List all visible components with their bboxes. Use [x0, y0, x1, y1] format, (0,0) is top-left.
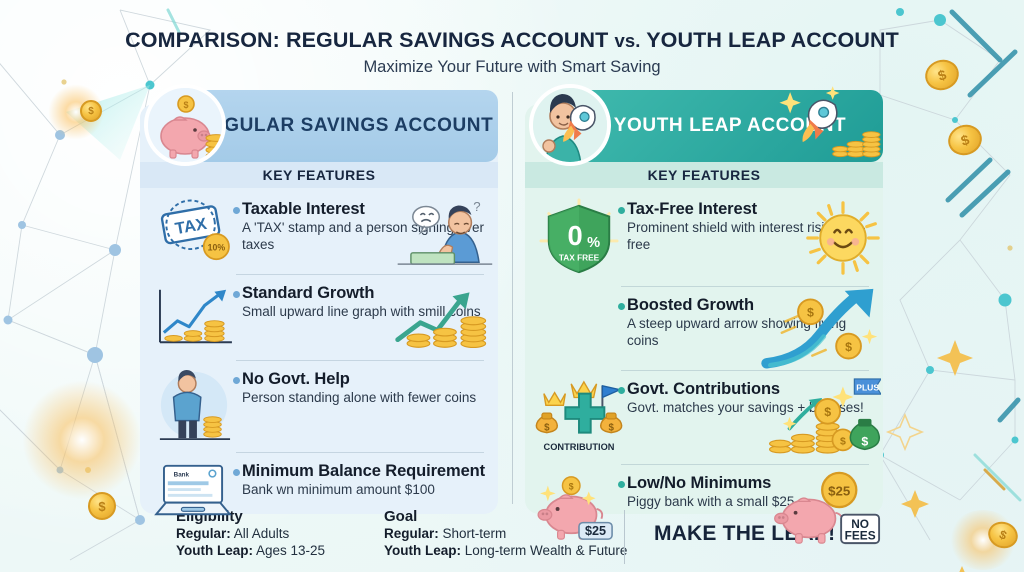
goal-youth-label: Youth Leap: [384, 543, 461, 558]
bullet-icon [233, 207, 240, 214]
page-title-part1: COMPARISON: REGULAR SAVINGS ACCOUNT [125, 28, 608, 52]
svg-text:%: % [587, 235, 600, 251]
svg-text:CONTRIBUTION: CONTRIBUTION [544, 442, 615, 452]
piggy-bank-icon: $ [144, 84, 226, 166]
regular-savings-title-bar: REGULAR SAVINGS ACCOUNT [192, 90, 498, 162]
feature-low-no-minimums: $ $25 [525, 464, 883, 552]
feature-title: Boosted Growth [627, 296, 873, 314]
feature-tax-free-interest-text: Tax-Free Interest Prominent shield with … [627, 198, 873, 278]
svg-text:Bank: Bank [174, 471, 190, 478]
bullet-icon [233, 377, 240, 384]
feature-title: Govt. Contributions [627, 380, 873, 398]
feature-title: Tax-Free Interest [627, 200, 873, 218]
rocket-coins-icon [765, 84, 881, 162]
feature-title: Taxable Interest [242, 200, 488, 218]
feature-minimum-balance-text: Minimum Balance Requirement Bank wn mini… [242, 460, 488, 522]
feature-taxable-interest: TAX 10% Taxable Interest A 'TAX' stamp a… [140, 190, 498, 274]
svg-text:TAX FREE: TAX FREE [559, 252, 600, 262]
feature-standard-growth-text: Standard Growth Small upward line graph … [242, 282, 488, 352]
feature-desc: Piggy bank with a small $25 [627, 494, 873, 510]
right-key-features-label: KEY FEATURES [648, 167, 761, 183]
page-title-vs: vs. [615, 30, 641, 51]
svg-text:$: $ [569, 482, 574, 492]
feature-desc: Prominent shield with interest rising ta… [627, 220, 873, 252]
svg-text:$: $ [183, 100, 188, 110]
feature-desc: Small upward line graph with smill coins [242, 304, 488, 320]
bullet-icon [233, 469, 240, 476]
svg-text:10%: 10% [208, 242, 226, 252]
decor-coin-right-mid: $ [944, 120, 986, 159]
svg-text:$: $ [608, 423, 614, 434]
regular-savings-title: REGULAR SAVINGS ACCOUNT [197, 115, 494, 136]
feature-standard-growth: Standard Growth Small upward line graph … [140, 274, 498, 360]
svg-text:$25: $25 [585, 524, 606, 538]
decor-coin-left: $ [80, 100, 102, 122]
feature-no-govt-help: No Govt. Help Person standing alone with… [140, 360, 498, 452]
bullet-icon [618, 387, 625, 394]
feature-boosted-growth: Boosted Growth A steep upward arrow show… [525, 286, 883, 370]
feature-title: Low/No Minimums [627, 474, 873, 492]
shield-zero-percent-icon: 0 % TAX FREE [531, 198, 627, 278]
page-title-part2: YOUTH LEAP ACCOUNT [646, 28, 899, 52]
bullet-icon [618, 481, 625, 488]
bullet-icon [233, 291, 240, 298]
feature-title: Standard Growth [242, 284, 488, 302]
feature-no-govt-help-text: No Govt. Help Person standing alone with… [242, 368, 488, 444]
feature-boosted-growth-text: Boosted Growth A steep upward arrow show… [627, 294, 873, 362]
feature-title: Minimum Balance Requirement [242, 462, 488, 480]
laptop-bank-icon: Bank [146, 460, 242, 522]
left-feature-list: TAX 10% Taxable Interest A 'TAX' stamp a… [140, 190, 498, 530]
right-feature-list: 0 % TAX FREE Tax-Free Interest Prominent… [525, 190, 883, 552]
feature-desc: Person standing alone with fewer coins [242, 390, 488, 406]
feature-tax-free-interest: 0 % TAX FREE Tax-Free Interest Prominent… [525, 190, 883, 286]
eligibility-youth: Youth Leap: Ages 13-25 [176, 543, 325, 559]
column-divider [512, 92, 513, 504]
money-bags-plus-icon: $ $ CONTRIBUTION [531, 378, 627, 456]
person-alone-icon [146, 368, 242, 444]
youth-leap-title-bar: YOUTH LEAP ACCOUNT [577, 90, 883, 162]
page-subtitle: Maximize Your Future with Smart Saving [0, 58, 1024, 77]
feature-desc: A steep upward arrow showing flying coin… [627, 316, 873, 348]
orange-glow-bottom-left [22, 380, 142, 500]
steep-arrow-icon [531, 294, 627, 362]
tax-stamp-icon: TAX 10% [146, 198, 242, 266]
svg-text:0: 0 [568, 220, 583, 251]
infographic-canvas: $ $ $ $ $ COMPARISON: REGULAR SAVINGS AC… [0, 0, 1024, 572]
right-key-features-band: KEY FEATURES [525, 162, 883, 188]
left-key-features-band: KEY FEATURES [140, 162, 498, 188]
eligibility-youth-value: Ages 13-25 [256, 543, 325, 558]
bullet-icon [618, 207, 625, 214]
feature-title: No Govt. Help [242, 370, 488, 388]
feature-minimum-balance: Bank Minimum Balance Requirement Bank wn… [140, 452, 498, 530]
left-key-features-label: KEY FEATURES [263, 167, 376, 183]
feature-desc: Govt. matches your savings + bonuses! [627, 400, 873, 416]
piggy-bank-25-icon: $ $25 [531, 472, 627, 544]
feature-govt-contributions: $ $ CONTRIBUTION Govt. Contributions Gov… [525, 370, 883, 464]
youth-rocket-icon [529, 84, 611, 166]
page-title: COMPARISON: REGULAR SAVINGS ACCOUNT vs. … [0, 28, 1024, 53]
feature-low-no-minimums-text: Low/No Minimums Piggy bank with a small … [627, 472, 873, 544]
feature-desc: Bank wn minimum amount $100 [242, 482, 488, 498]
feature-desc: A 'TAX' stamp and a person sighing over … [242, 220, 488, 252]
bullet-icon [618, 303, 625, 310]
eligibility-youth-label: Youth Leap: [176, 543, 253, 558]
feature-taxable-interest-text: Taxable Interest A 'TAX' stamp and a per… [242, 198, 488, 266]
line-graph-coins-icon [146, 282, 242, 352]
feature-govt-contributions-text: Govt. Contributions Govt. matches your s… [627, 378, 873, 456]
svg-text:$: $ [544, 423, 550, 434]
